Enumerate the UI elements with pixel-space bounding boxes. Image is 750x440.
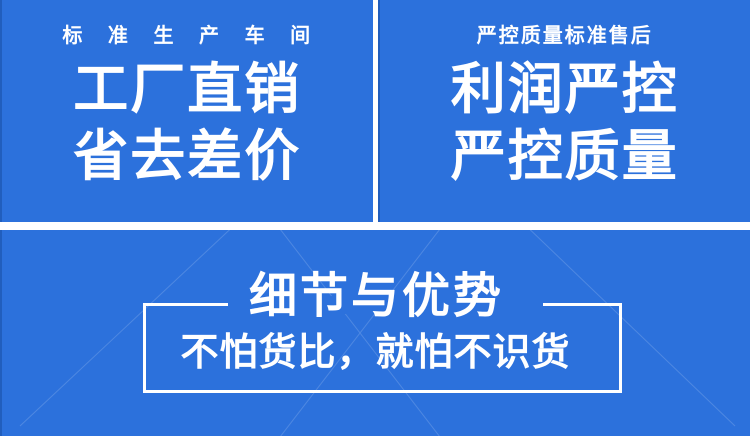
panel-quality-control: 严控质量标准售后 利润严控 严控质量	[378, 0, 750, 222]
panel-headline-line2-quality-control: 严控质量	[449, 129, 679, 184]
bottom-banner-details-advantages: 细节与优势 不怕货比，就怕不识货	[0, 230, 750, 436]
panel-factory-direct: 标 准 生 产 车 间 工厂直销 省去差价	[0, 0, 373, 222]
panel-headline-line2-factory-direct: 省去差价	[71, 129, 301, 184]
top-panel-row: 标 准 生 产 车 间 工厂直销 省去差价 严控质量标准售后 利润严控 严控质量	[0, 0, 750, 222]
promo-banner-canvas: 标 准 生 产 车 间 工厂直销 省去差价 严控质量标准售后 利润严控 严控质量…	[0, 0, 750, 440]
banner-title: 细节与优势	[0, 273, 750, 321]
panel-kicker-quality-control: 严控质量标准售后	[475, 26, 653, 46]
panel-headline-line1-factory-direct: 工厂直销	[71, 62, 301, 117]
banner-subtitle: 不怕货比，就怕不识货	[0, 334, 750, 372]
panel-headline-line1-quality-control: 利润严控	[449, 62, 679, 117]
panel-kicker-factory-direct: 标 准 生 产 车 间	[52, 26, 320, 46]
